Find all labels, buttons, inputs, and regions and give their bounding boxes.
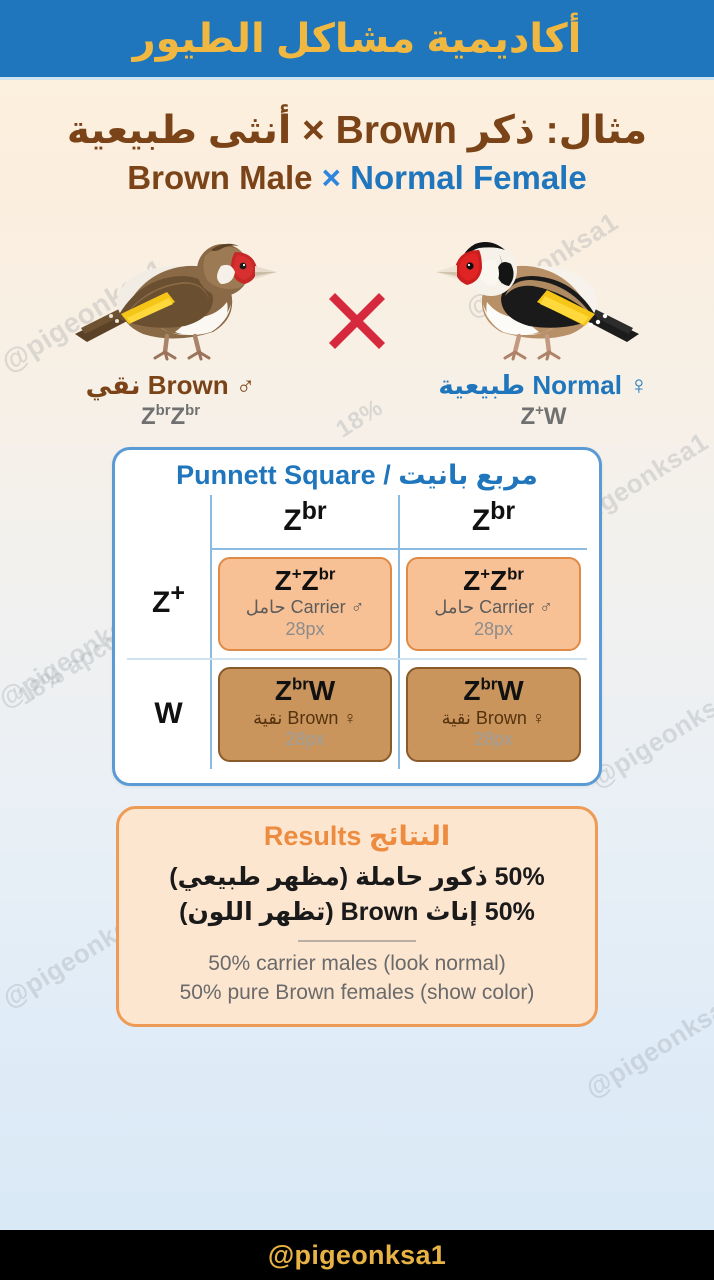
cell-genotype: Z+Zbr xyxy=(224,566,386,595)
watermark-handle: @pigeonksa1 xyxy=(585,676,714,794)
punnett-title: مربع بانيت / Punnett Square xyxy=(127,460,587,491)
title-english-left: Brown Male xyxy=(127,159,312,196)
genotype-sup: br xyxy=(185,403,200,419)
parents-row: ♂ Brown نقي ZbrZbr xyxy=(0,212,714,431)
allele-base: Z xyxy=(490,565,507,596)
watermark-handle: @pigeonksa1 xyxy=(580,986,714,1104)
punnett-cell-carrier[interactable]: Z+Zbr ♂ Carrier حامل 28px xyxy=(406,557,581,652)
allele-sup: br xyxy=(292,675,309,694)
results-title: النتائج Results xyxy=(135,821,579,852)
footer-bar: @pigeonksa1 xyxy=(0,1230,714,1280)
punnett-cell-wrapper: Z+Zbr ♂ Carrier حامل 28px xyxy=(399,549,587,660)
allele-base: Z xyxy=(275,565,292,596)
allele-sup: br xyxy=(480,675,497,694)
results-arabic-line-2: 50% إناث Brown (تظهر اللون) xyxy=(135,895,579,931)
infographic-page: @pigeonksa1 @pigeonksa1 @pigeonksa1 @pig… xyxy=(0,0,714,1280)
punnett-cell-wrapper: Z+Zbr ♂ Carrier حامل 28px xyxy=(211,549,399,660)
parent-female-genotype: Z+W xyxy=(401,403,686,431)
allele-sup: br xyxy=(490,497,515,525)
results-arabic-line-1: 50% ذكور حاملة (مظهر طبيعي) xyxy=(135,860,579,896)
punnett-corner xyxy=(127,495,211,549)
title-english: Brown Male × Normal Female xyxy=(0,158,714,198)
allele-base: Z xyxy=(152,586,170,619)
results-panel: النتائج Results 50% ذكور حاملة (مظهر طبي… xyxy=(116,806,598,1027)
cell-subtext: 28px xyxy=(412,729,575,751)
punnett-row-1: Z+ Z+Zbr ♂ Carrier حامل 28px Z+Zbr xyxy=(127,549,587,660)
allele-sup: br xyxy=(302,497,327,525)
title-block: مثال: ذكر Brown × أنثى طبيعية Brown Male… xyxy=(0,80,714,198)
cross-symbol xyxy=(319,246,395,396)
header-bar: أكاديمية مشاكل الطيور xyxy=(0,0,714,80)
punnett-col-header-1: Zbr xyxy=(211,495,399,549)
allele-base: Z xyxy=(472,504,490,537)
genotype-base: W xyxy=(544,403,567,430)
cell-description: ♀ Brown نقية xyxy=(412,708,575,730)
allele-base: Z xyxy=(302,565,319,596)
footer-handle: @pigeonksa1 xyxy=(268,1240,446,1271)
allele-sup: + xyxy=(480,564,490,583)
punnett-header-row: Zbr Zbr xyxy=(127,495,587,549)
punnett-col-header-2: Zbr xyxy=(399,495,587,549)
title-arabic: مثال: ذكر Brown × أنثى طبيعية xyxy=(0,108,714,154)
genotype-sup: + xyxy=(535,403,544,419)
red-x-icon xyxy=(324,288,390,354)
allele-sup: + xyxy=(292,564,302,583)
brown-goldfinch-icon xyxy=(63,222,278,362)
cell-genotype: Z+Zbr xyxy=(412,566,575,595)
allele-base: Z xyxy=(463,675,480,706)
punnett-row-2: W ZbrW ♀ Brown نقية 28px ZbrW xyxy=(127,659,587,769)
punnett-square-panel: مربع بانيت / Punnett Square Zbr Zbr Z+ xyxy=(112,447,602,786)
allele-base: W xyxy=(309,675,335,706)
parent-male-genotype: ZbrZbr xyxy=(28,403,313,431)
punnett-cell-brown-female[interactable]: ZbrW ♀ Brown نقية 28px xyxy=(218,667,392,762)
punnett-cell-wrapper: ZbrW ♀ Brown نقية 28px xyxy=(399,659,587,769)
allele-sup: br xyxy=(319,564,336,583)
allele-base: Z xyxy=(275,675,292,706)
genotype-base: Z xyxy=(171,403,186,430)
punnett-cell-brown-female[interactable]: ZbrW ♀ Brown نقية 28px xyxy=(406,667,581,762)
parent-male-label: ♂ Brown نقي xyxy=(28,370,313,401)
allele-sup: + xyxy=(170,579,185,607)
parent-female-label: ♀ Normal طبيعية xyxy=(401,370,686,401)
cell-genotype: ZbrW xyxy=(224,676,386,705)
cell-description: ♂ Carrier حامل xyxy=(412,597,575,619)
allele-base: W xyxy=(154,697,182,730)
cell-description: ♂ Carrier حامل xyxy=(224,597,386,619)
punnett-row-header-1: Z+ xyxy=(127,549,211,660)
genotype-sup: br xyxy=(156,403,171,419)
allele-sup: br xyxy=(507,564,524,583)
punnett-row-header-2: W xyxy=(127,659,211,769)
punnett-cell-carrier[interactable]: Z+Zbr ♂ Carrier حامل 28px xyxy=(218,557,392,652)
cell-description: ♀ Brown نقية xyxy=(224,708,386,730)
page-title: أكاديمية مشاكل الطيور xyxy=(133,16,582,62)
allele-base: Z xyxy=(283,504,301,537)
results-divider xyxy=(298,940,416,942)
cell-subtext: 28px xyxy=(412,619,575,641)
title-english-right: Normal Female xyxy=(350,159,587,196)
watermark-percent-partial: 18% apco xyxy=(13,627,125,712)
parent-male: ♂ Brown نقي ZbrZbr xyxy=(28,212,313,431)
cell-subtext: 28px xyxy=(224,729,386,751)
genotype-base: Z xyxy=(141,403,156,430)
allele-base: W xyxy=(497,675,523,706)
bird-brown-male xyxy=(28,212,313,362)
bird-normal-female xyxy=(401,212,686,362)
allele-base: Z xyxy=(463,565,480,596)
parent-female: ♀ Normal طبيعية Z+W xyxy=(401,212,686,431)
title-english-x: × xyxy=(322,159,341,196)
cell-subtext: 28px xyxy=(224,619,386,641)
punnett-grid: Zbr Zbr Z+ Z+Zbr ♂ Carrier حامل 28px xyxy=(127,495,587,769)
cell-genotype: ZbrW xyxy=(412,676,575,705)
punnett-cell-wrapper: ZbrW ♀ Brown نقية 28px xyxy=(211,659,399,769)
results-english-line-1: 50% carrier males (look normal) xyxy=(135,950,579,979)
results-english-line-2: 50% pure Brown females (show color) xyxy=(135,979,579,1008)
genotype-base: Z xyxy=(520,403,535,430)
normal-goldfinch-icon xyxy=(436,222,651,362)
